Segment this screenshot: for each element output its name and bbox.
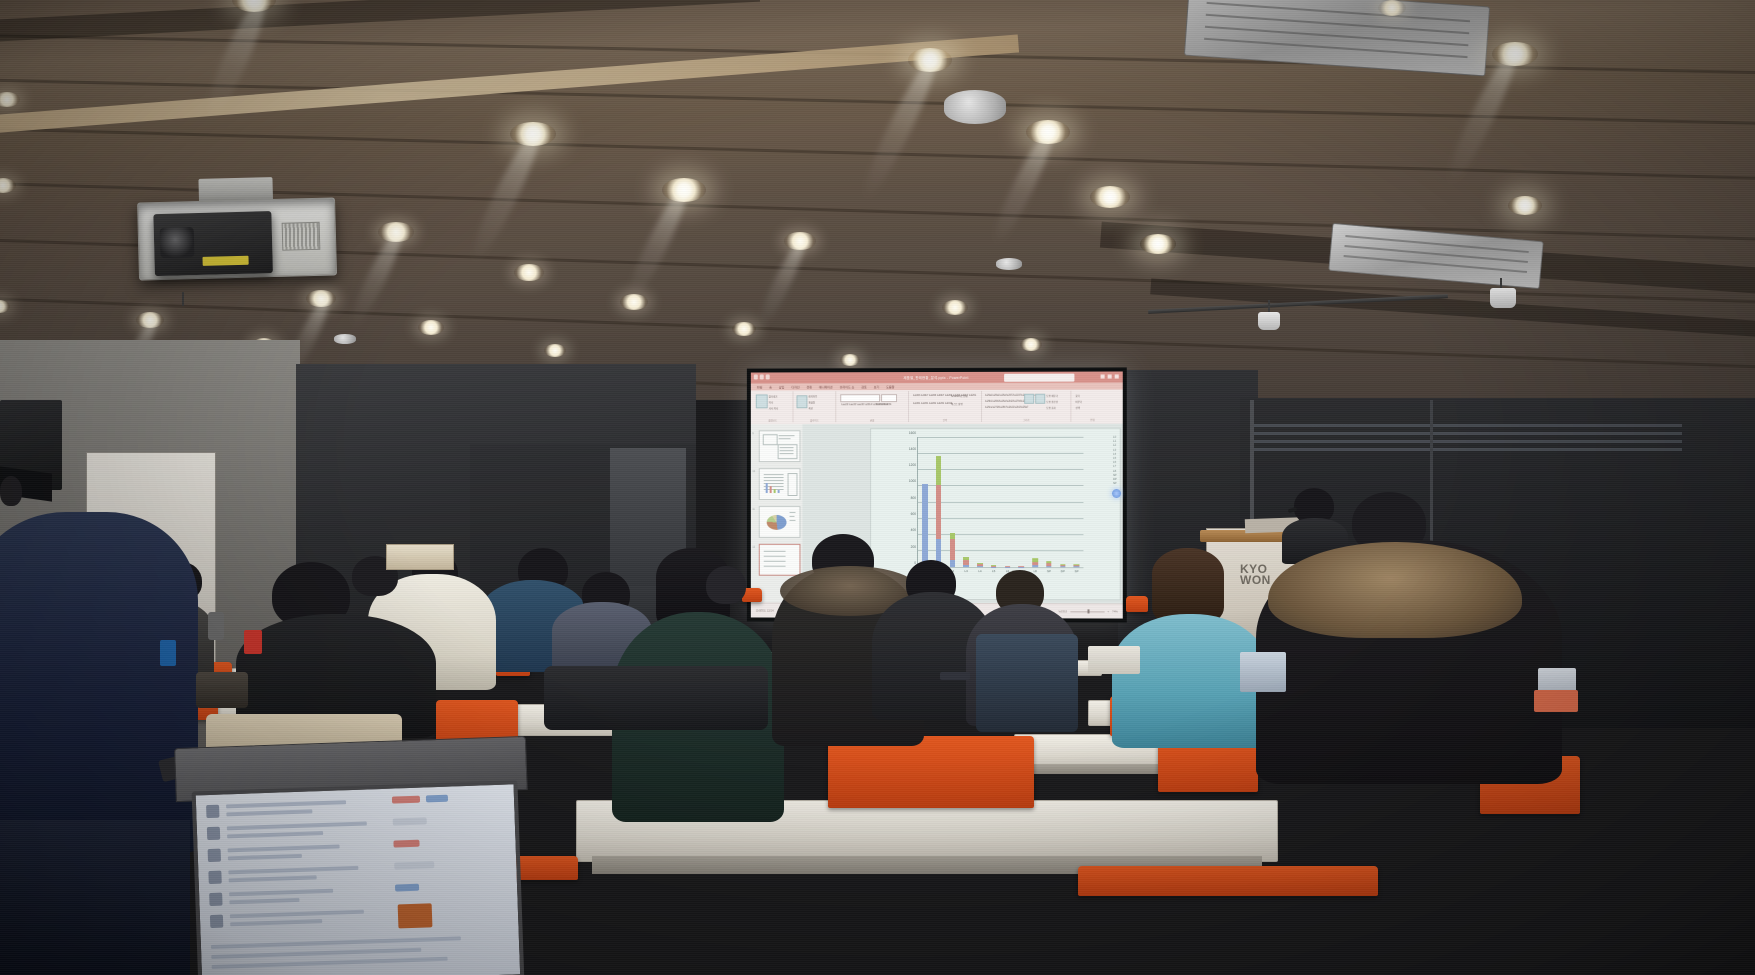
chair xyxy=(1126,596,1148,612)
chart-bar-segment xyxy=(1032,565,1038,567)
slide-number: 12 xyxy=(752,546,755,549)
cardboard-box xyxy=(386,544,454,570)
format-painter-label[interactable]: 서식 복사 xyxy=(769,406,778,410)
slide-thumbnail-selected[interactable] xyxy=(759,544,801,576)
chart-y-tick: 1200 xyxy=(909,463,916,467)
lecture-hall-photo: 제품별_판매현황_분석.pptx - PowerPoint 파일 홈 삽입 디자… xyxy=(0,0,1755,975)
backpack xyxy=(976,634,1078,732)
chart-y-tick: 600 xyxy=(911,512,916,516)
ceiling-smoke-detector xyxy=(334,334,356,344)
chart-bar-segment xyxy=(963,565,969,567)
chart-y-tick: 1400 xyxy=(909,447,916,451)
chart-bar[interactable]: SP xyxy=(1074,564,1080,567)
ribbon[interactable]: 잘라내기 복사 서식 복사 클립보드 레이아웃 재설정 섹션 슬라이드 xyxy=(751,390,1123,426)
slide-number: 9 xyxy=(752,432,753,435)
tab-review[interactable]: 검토 xyxy=(861,385,867,389)
ribbon-group-editing[interactable]: 찾기 바꾸기 선택 편집 xyxy=(1071,391,1113,422)
audience-head xyxy=(1152,548,1224,624)
tab-slideshow[interactable]: 슬라이드 쇼 xyxy=(840,385,855,389)
audience-head xyxy=(706,566,746,604)
zoom-slider[interactable] xyxy=(1070,611,1104,612)
tab-transitions[interactable]: 전환 xyxy=(807,385,812,389)
status-slide-counter: 슬라이드 12/24 xyxy=(756,609,774,613)
smartart-label[interactable]: SmartArt로 변환 xyxy=(951,394,968,398)
chart-bar-segment xyxy=(936,485,941,539)
chart-legend-entry[interactable]: SP xyxy=(1113,475,1117,478)
group-label-drawing: 그리기 xyxy=(982,418,1070,422)
chart-legend: L0L1L2L3L4L5L6L7L8SPDPSP xyxy=(1113,437,1117,486)
tab-design[interactable]: 디자인 xyxy=(791,385,799,389)
align-icon[interactable]: \u2261 \u2261 \u2261 \u2261 \u2194 xyxy=(913,402,952,405)
chart-x-tick: L4 xyxy=(978,569,981,573)
group-label-clipboard: 클립보드 xyxy=(753,418,793,422)
chart-bar[interactable]: L8 xyxy=(1032,558,1038,567)
replace-label[interactable]: 바꾸기 xyxy=(1075,400,1082,404)
arrange-icon[interactable] xyxy=(1024,394,1034,404)
chart-gridline: 400 xyxy=(918,534,1083,535)
slide-number: 10 xyxy=(752,470,755,473)
foreground-laptop[interactable] xyxy=(174,736,532,975)
track-light xyxy=(1490,288,1516,308)
coat-on-desk xyxy=(544,666,768,730)
lectern-logo-line2: WON xyxy=(1240,573,1271,587)
layout-label[interactable]: 레이아웃 xyxy=(808,394,817,398)
bottle xyxy=(160,640,176,666)
tab-view[interactable]: 보기 xyxy=(874,385,880,389)
tab-file[interactable]: 파일 xyxy=(757,385,762,389)
tab-insert[interactable]: 삽입 xyxy=(779,385,784,389)
new-slide-icon[interactable] xyxy=(796,395,807,408)
chart-bar-segment xyxy=(1046,566,1052,567)
papers xyxy=(1088,646,1140,674)
tab-animations[interactable]: 애니메이션 xyxy=(819,385,833,389)
chart-bar[interactable]: DP xyxy=(1060,564,1066,567)
chart-legend-entry[interactable]: L4 xyxy=(1113,454,1117,457)
ceiling-speaker xyxy=(944,90,1006,124)
ribbon-search-box[interactable] xyxy=(1004,373,1074,381)
section-label[interactable]: 섹션 xyxy=(808,406,812,410)
chart-x-tick: L8 xyxy=(1033,569,1036,573)
chart-bar[interactable]: L5 xyxy=(991,565,997,567)
ribbon-group-font[interactable]: \uac00 \uac00 \uac00 \u2014 \u2014 \u201… xyxy=(836,391,909,422)
chart-x-tick: L3 xyxy=(964,569,967,573)
shape-fill-label[interactable]: 도형 채우기 xyxy=(1046,394,1058,398)
slide-thumbnail[interactable] xyxy=(759,468,801,500)
window-title: 제품별_판매현황_분석.pptx - PowerPoint xyxy=(903,375,968,380)
chart-gridline: 200 xyxy=(918,550,1083,551)
shapes-gallery-icon[interactable]: \u25ce\u2726\u25b7\u2b21\u2b1f\u25a7 xyxy=(985,406,1028,409)
chart-bar[interactable]: L0 xyxy=(922,484,927,567)
text-direction-label[interactable]: 텍스트 방향 xyxy=(951,402,963,406)
lectern-logo: KYO WON xyxy=(1240,564,1271,586)
chart-legend-entry[interactable]: L3 xyxy=(1113,449,1117,452)
chart-bar[interactable]: SP xyxy=(1046,561,1052,568)
chart-x-tick: SP xyxy=(1075,569,1079,573)
chart-bar-segment xyxy=(922,484,927,567)
zoom-minus-icon[interactable]: \u2212 xyxy=(1059,609,1068,613)
group-label-paragraph: 단락 xyxy=(909,418,981,422)
font-size-input[interactable] xyxy=(881,394,897,402)
ceiling-air-vent xyxy=(1184,0,1490,76)
paste-icon[interactable] xyxy=(756,394,768,408)
chart-bar-segment xyxy=(950,560,956,567)
chart-x-tick: SP xyxy=(1047,569,1051,573)
ribbon-group-drawing[interactable]: \u25a1\u25a1\u25ef\u2572\u2197\u25b3\u25… xyxy=(982,391,1071,422)
slide-number: 11 xyxy=(752,508,754,511)
chart-gridline: 800 xyxy=(918,501,1083,502)
projector-lens xyxy=(160,227,195,258)
tab-home[interactable]: 홈 xyxy=(769,385,772,389)
chart-x-tick: DP xyxy=(1061,569,1065,573)
ceiling-projector xyxy=(136,175,335,300)
chart-y-tick: 400 xyxy=(911,528,916,532)
chart-y-tick: 800 xyxy=(911,496,916,500)
group-label-editing: 편집 xyxy=(1071,418,1113,422)
stacked-bar-chart[interactable]: 02004006008001000120014001600L0-L1L2L3L4… xyxy=(897,435,1085,582)
chart-bar-segment xyxy=(1060,566,1066,567)
slide-thumbnail[interactable] xyxy=(759,506,801,538)
chart-legend-entry[interactable]: L7 xyxy=(1113,466,1117,469)
zoom-level: 74% xyxy=(1112,609,1118,613)
mouse-cursor xyxy=(1112,489,1121,498)
chart-gridline: 1200 xyxy=(918,469,1083,470)
chart-gridline: 600 xyxy=(918,518,1083,519)
chart-bar[interactable]: L6 xyxy=(1005,566,1011,567)
zoom-control[interactable]: \u2212 + 74% xyxy=(1059,609,1118,613)
quick-styles-icon[interactable] xyxy=(1035,394,1045,404)
paper-cup xyxy=(244,630,262,654)
font-name-input[interactable] xyxy=(840,394,880,402)
chart-legend-entry[interactable]: L2 xyxy=(1113,445,1117,448)
audience-head xyxy=(0,476,22,506)
bag xyxy=(196,672,248,708)
ribbon-group-clipboard[interactable]: 잘라내기 복사 서식 복사 클립보드 xyxy=(753,391,794,422)
chair xyxy=(828,736,1034,808)
chart-gridline: 1000 xyxy=(918,485,1083,486)
find-label[interactable]: 찾기 xyxy=(1075,394,1079,398)
group-label-slides: 슬라이드 xyxy=(794,418,836,422)
chart-bar[interactable]: L7 xyxy=(1019,566,1025,567)
audience-shoulder-foreground xyxy=(0,820,190,975)
audience-person-foreground xyxy=(0,512,198,852)
folder xyxy=(1534,690,1578,712)
chart-legend-entry[interactable]: SP xyxy=(1113,483,1117,486)
chart-bar-segment xyxy=(936,456,941,485)
chart-y-tick: 200 xyxy=(911,545,916,549)
quick-access-toolbar[interactable] xyxy=(754,374,770,379)
font-color-icon[interactable]: \u2220 \u2234 xyxy=(876,403,891,406)
chart-bar-segment xyxy=(1074,567,1080,568)
shape-effects-label[interactable]: 도형 효과 xyxy=(1046,406,1056,410)
slide-thumbnail[interactable] xyxy=(759,430,801,462)
chart-bar[interactable]: L2 xyxy=(950,533,956,567)
ribbon-group-paragraph[interactable]: \u2263 \u00b7 \u2263 \u00b7 \u2263 \u226… xyxy=(909,391,982,422)
open-laptop xyxy=(1240,652,1286,692)
chart-gridline: 1600 xyxy=(918,436,1083,437)
chart-bar[interactable]: L4 xyxy=(977,563,983,567)
chart-bar-segment xyxy=(950,539,956,559)
copy-label[interactable]: 복사 xyxy=(769,400,773,404)
shape-outline-label[interactable]: 도형 윤곤선 xyxy=(1046,400,1058,404)
chair xyxy=(1078,866,1378,896)
chart-y-tick: 1600 xyxy=(909,431,916,435)
chart-legend-entry[interactable]: L8 xyxy=(1113,470,1117,473)
cut-label[interactable]: 잘라내기 xyxy=(769,394,778,398)
laptop-screen[interactable] xyxy=(192,780,525,975)
track-light xyxy=(1258,312,1280,330)
shapes-gallery-icon[interactable]: \u25b1\u25b3\u25ef\u2b20\u27b6\u25ed xyxy=(985,400,1028,403)
chart-bar-segment xyxy=(977,566,983,567)
chart-gridline: 1400 xyxy=(918,453,1083,454)
ceiling-smoke-detector xyxy=(996,258,1022,270)
select-label[interactable]: 선택 xyxy=(1075,406,1079,410)
chart-y-tick: 1000 xyxy=(909,479,916,483)
chart-bar[interactable]: L3 xyxy=(963,557,969,567)
chart-x-tick: L5 xyxy=(992,569,995,573)
window-controls[interactable] xyxy=(1101,374,1119,378)
chart-plot-area: 02004006008001000120014001600L0-L1L2L3L4… xyxy=(917,437,1083,568)
tab-help[interactable]: 도움말 xyxy=(886,385,894,389)
tumbler xyxy=(208,612,224,640)
reset-label[interactable]: 재설정 xyxy=(808,400,815,404)
phone-on-desk xyxy=(940,672,970,680)
group-label-font: 글꼴 xyxy=(836,418,908,422)
ribbon-group-slides[interactable]: 레이아웃 재설정 섹션 슬라이드 xyxy=(794,391,837,422)
chart-bar[interactable]: -L1 xyxy=(936,456,941,567)
zoom-plus-icon[interactable]: + xyxy=(1107,609,1109,613)
